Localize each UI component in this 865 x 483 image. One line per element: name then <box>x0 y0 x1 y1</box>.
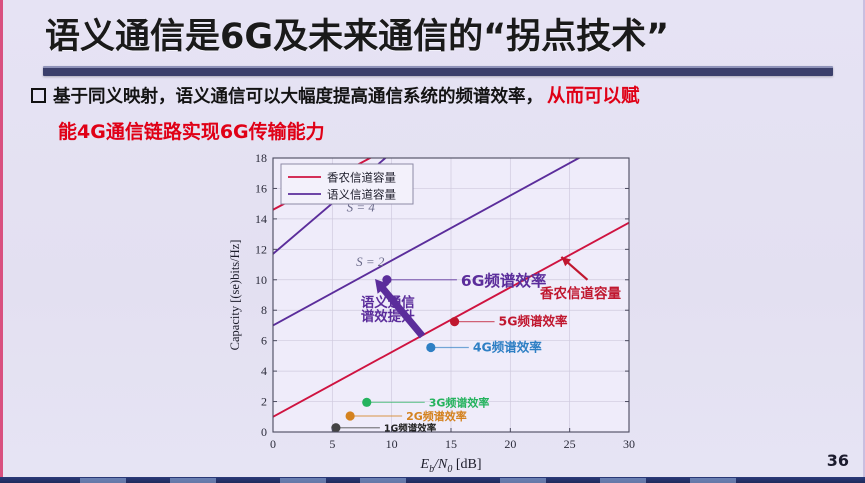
annotation-shannon-callout: 香农信道容量 <box>539 285 621 302</box>
marker-label-6g: 6G频谱效率 <box>461 271 547 290</box>
marker-label-5g: 5G频谱效率 <box>499 314 568 329</box>
marker-point-5g <box>450 317 459 326</box>
y-tick-label: 16 <box>255 181 267 195</box>
taskbar-item[interactable] <box>280 478 326 483</box>
y-tick-label: 2 <box>261 395 267 409</box>
taskbar-item[interactable] <box>80 478 126 483</box>
os-taskbar[interactable] <box>0 477 865 483</box>
marker-label-2g: 2G频谱效率 <box>406 409 467 423</box>
page-number: 36 <box>827 451 849 470</box>
x-tick-label: 20 <box>504 437 516 451</box>
taskbar-item[interactable] <box>600 478 646 483</box>
y-tick-label: 8 <box>261 303 267 317</box>
marker-point-4g <box>426 343 435 352</box>
marker-point-2g <box>346 411 355 420</box>
bullet-row: 基于同义映射，语义通信可以大幅度提高通信系统的频谱效率， 从而可以赋 <box>31 82 851 108</box>
y-axis-label: Capacity [(se)bits/Hz] <box>228 240 242 351</box>
legend-label-0: 香农信道容量 <box>327 171 396 185</box>
bullet-text-line2: 能4G通信链路实现6G传输能力 <box>58 117 325 144</box>
marker-label-3g: 3G频谱效率 <box>429 395 490 409</box>
x-tick-label: 30 <box>623 437 635 451</box>
x-axis-unit: [dB] <box>452 457 481 472</box>
title-divider <box>43 66 833 76</box>
taskbar-item[interactable] <box>690 478 736 483</box>
page-title: 语义通信是6G及未来通信的“拐点技术” <box>45 8 835 56</box>
x-axis-label: Eb/N0 [dB] <box>420 457 482 472</box>
bullet-text-primary: 基于同义映射，语义通信可以大幅度提高通信系统的频谱效率， <box>53 83 543 108</box>
chart-svg: S = 4S = 2语义通信谱效提升香农信道容量6G频谱效率5G频谱效率4G频谱… <box>225 150 645 472</box>
annotation-s2-label: S = 2 <box>356 254 385 269</box>
x-tick-label: 0 <box>270 437 276 451</box>
x-tick-label: 5 <box>329 437 335 451</box>
capacity-chart: S = 4S = 2语义通信谱效提升香农信道容量6G频谱效率5G频谱效率4G频谱… <box>225 150 645 472</box>
taskbar-item[interactable] <box>360 478 406 483</box>
slide-canvas: 语义通信是6G及未来通信的“拐点技术” 基于同义映射，语义通信可以大幅度提高通信… <box>0 0 865 478</box>
y-tick-label: 12 <box>255 242 267 256</box>
y-tick-label: 6 <box>261 334 267 348</box>
bullet-text-highlight: 从而可以赋 <box>547 82 640 108</box>
y-tick-label: 4 <box>261 364 267 378</box>
bullet-square-icon <box>31 88 46 103</box>
x-tick-label: 10 <box>386 437 398 451</box>
y-tick-label: 0 <box>261 425 267 439</box>
marker-label-4g: 4G频谱效率 <box>473 340 542 355</box>
y-tick-label: 10 <box>255 273 267 287</box>
marker-point-3g <box>362 398 371 407</box>
x-tick-label: 15 <box>445 437 457 451</box>
marker-point-6g <box>382 275 391 284</box>
y-tick-label: 14 <box>255 212 267 226</box>
x-axis-rest: /N <box>433 457 448 472</box>
y-tick-label: 18 <box>255 151 267 165</box>
taskbar-item[interactable] <box>500 478 546 483</box>
x-tick-label: 25 <box>564 437 576 451</box>
legend-label-1: 语义信道容量 <box>327 188 396 202</box>
taskbar-item[interactable] <box>170 478 216 483</box>
